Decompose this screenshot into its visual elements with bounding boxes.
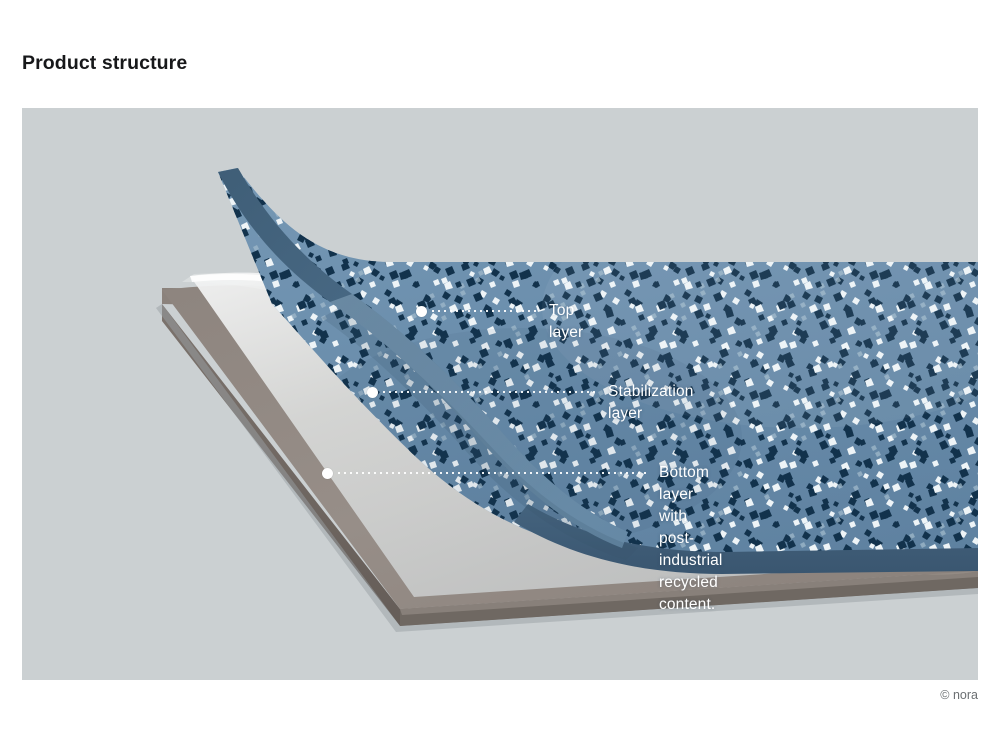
callout-dot-top-layer (416, 306, 427, 317)
product-structure-page: Product structure (0, 0, 1000, 750)
callout-label-bottom-layer: Bottom layer with post-industrial recycl… (659, 462, 723, 616)
callout-dot-stabilization-layer (367, 387, 378, 398)
page-title: Product structure (22, 52, 187, 75)
copyright-notice: © nora (940, 688, 978, 702)
callout-label-top-layer: Top layer (549, 300, 583, 344)
layered-flooring-illustration (22, 108, 978, 680)
callout-leader-stabilization-layer (381, 391, 599, 393)
callout-label-stabilization-layer: Stabilization layer (608, 381, 694, 425)
callout-dot-bottom-layer (322, 468, 333, 479)
callout-leader-bottom-layer (336, 472, 650, 474)
illustration-panel: Top layer Stabilization layer Bottom lay… (22, 108, 978, 680)
callout-leader-top-layer (430, 310, 540, 312)
